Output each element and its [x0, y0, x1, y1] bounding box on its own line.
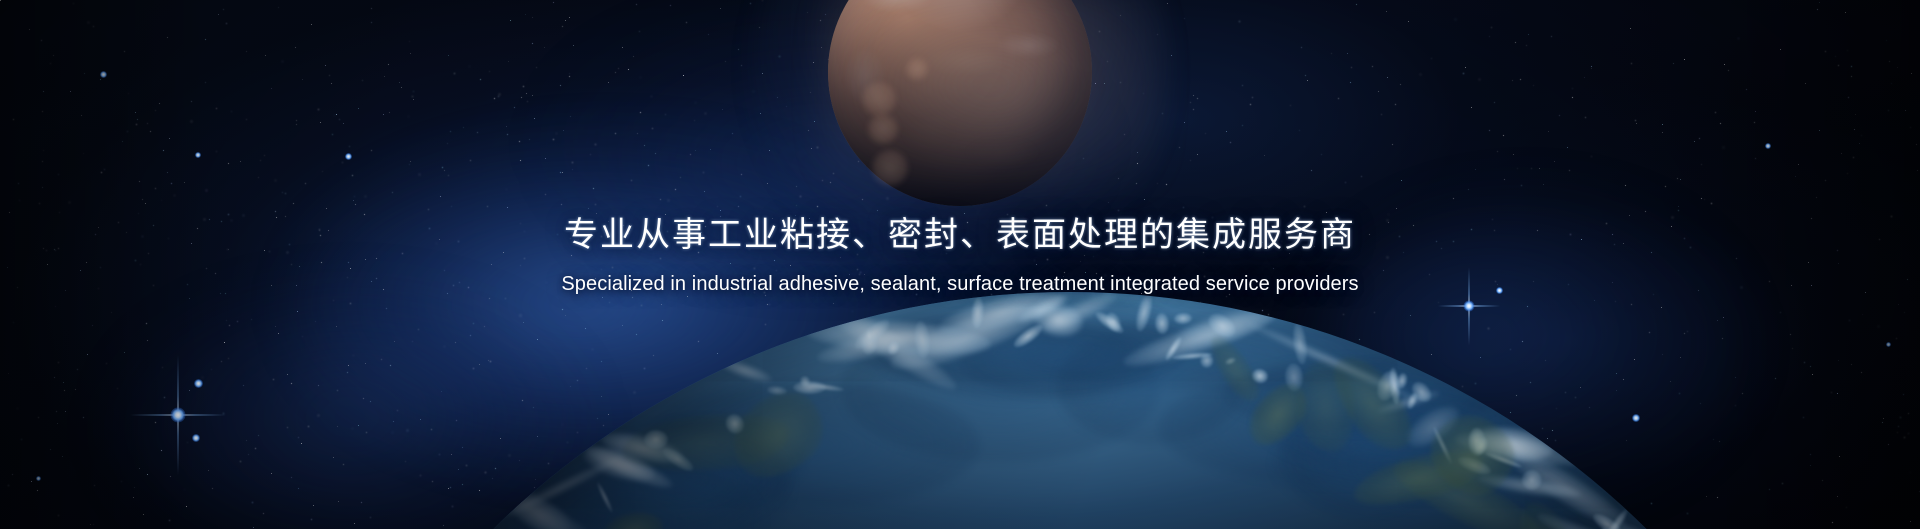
- page-subtitle: Specialized in industrial adhesive, seal…: [0, 271, 1920, 297]
- page-title: 专业从事工业粘接、密封、表面处理的集成服务商: [0, 214, 1920, 257]
- hero-copy: 专业从事工业粘接、密封、表面处理的集成服务商 Specialized in in…: [0, 214, 1920, 297]
- hero-banner: 专业从事工业粘接、密封、表面处理的集成服务商 Specialized in in…: [0, 0, 1920, 529]
